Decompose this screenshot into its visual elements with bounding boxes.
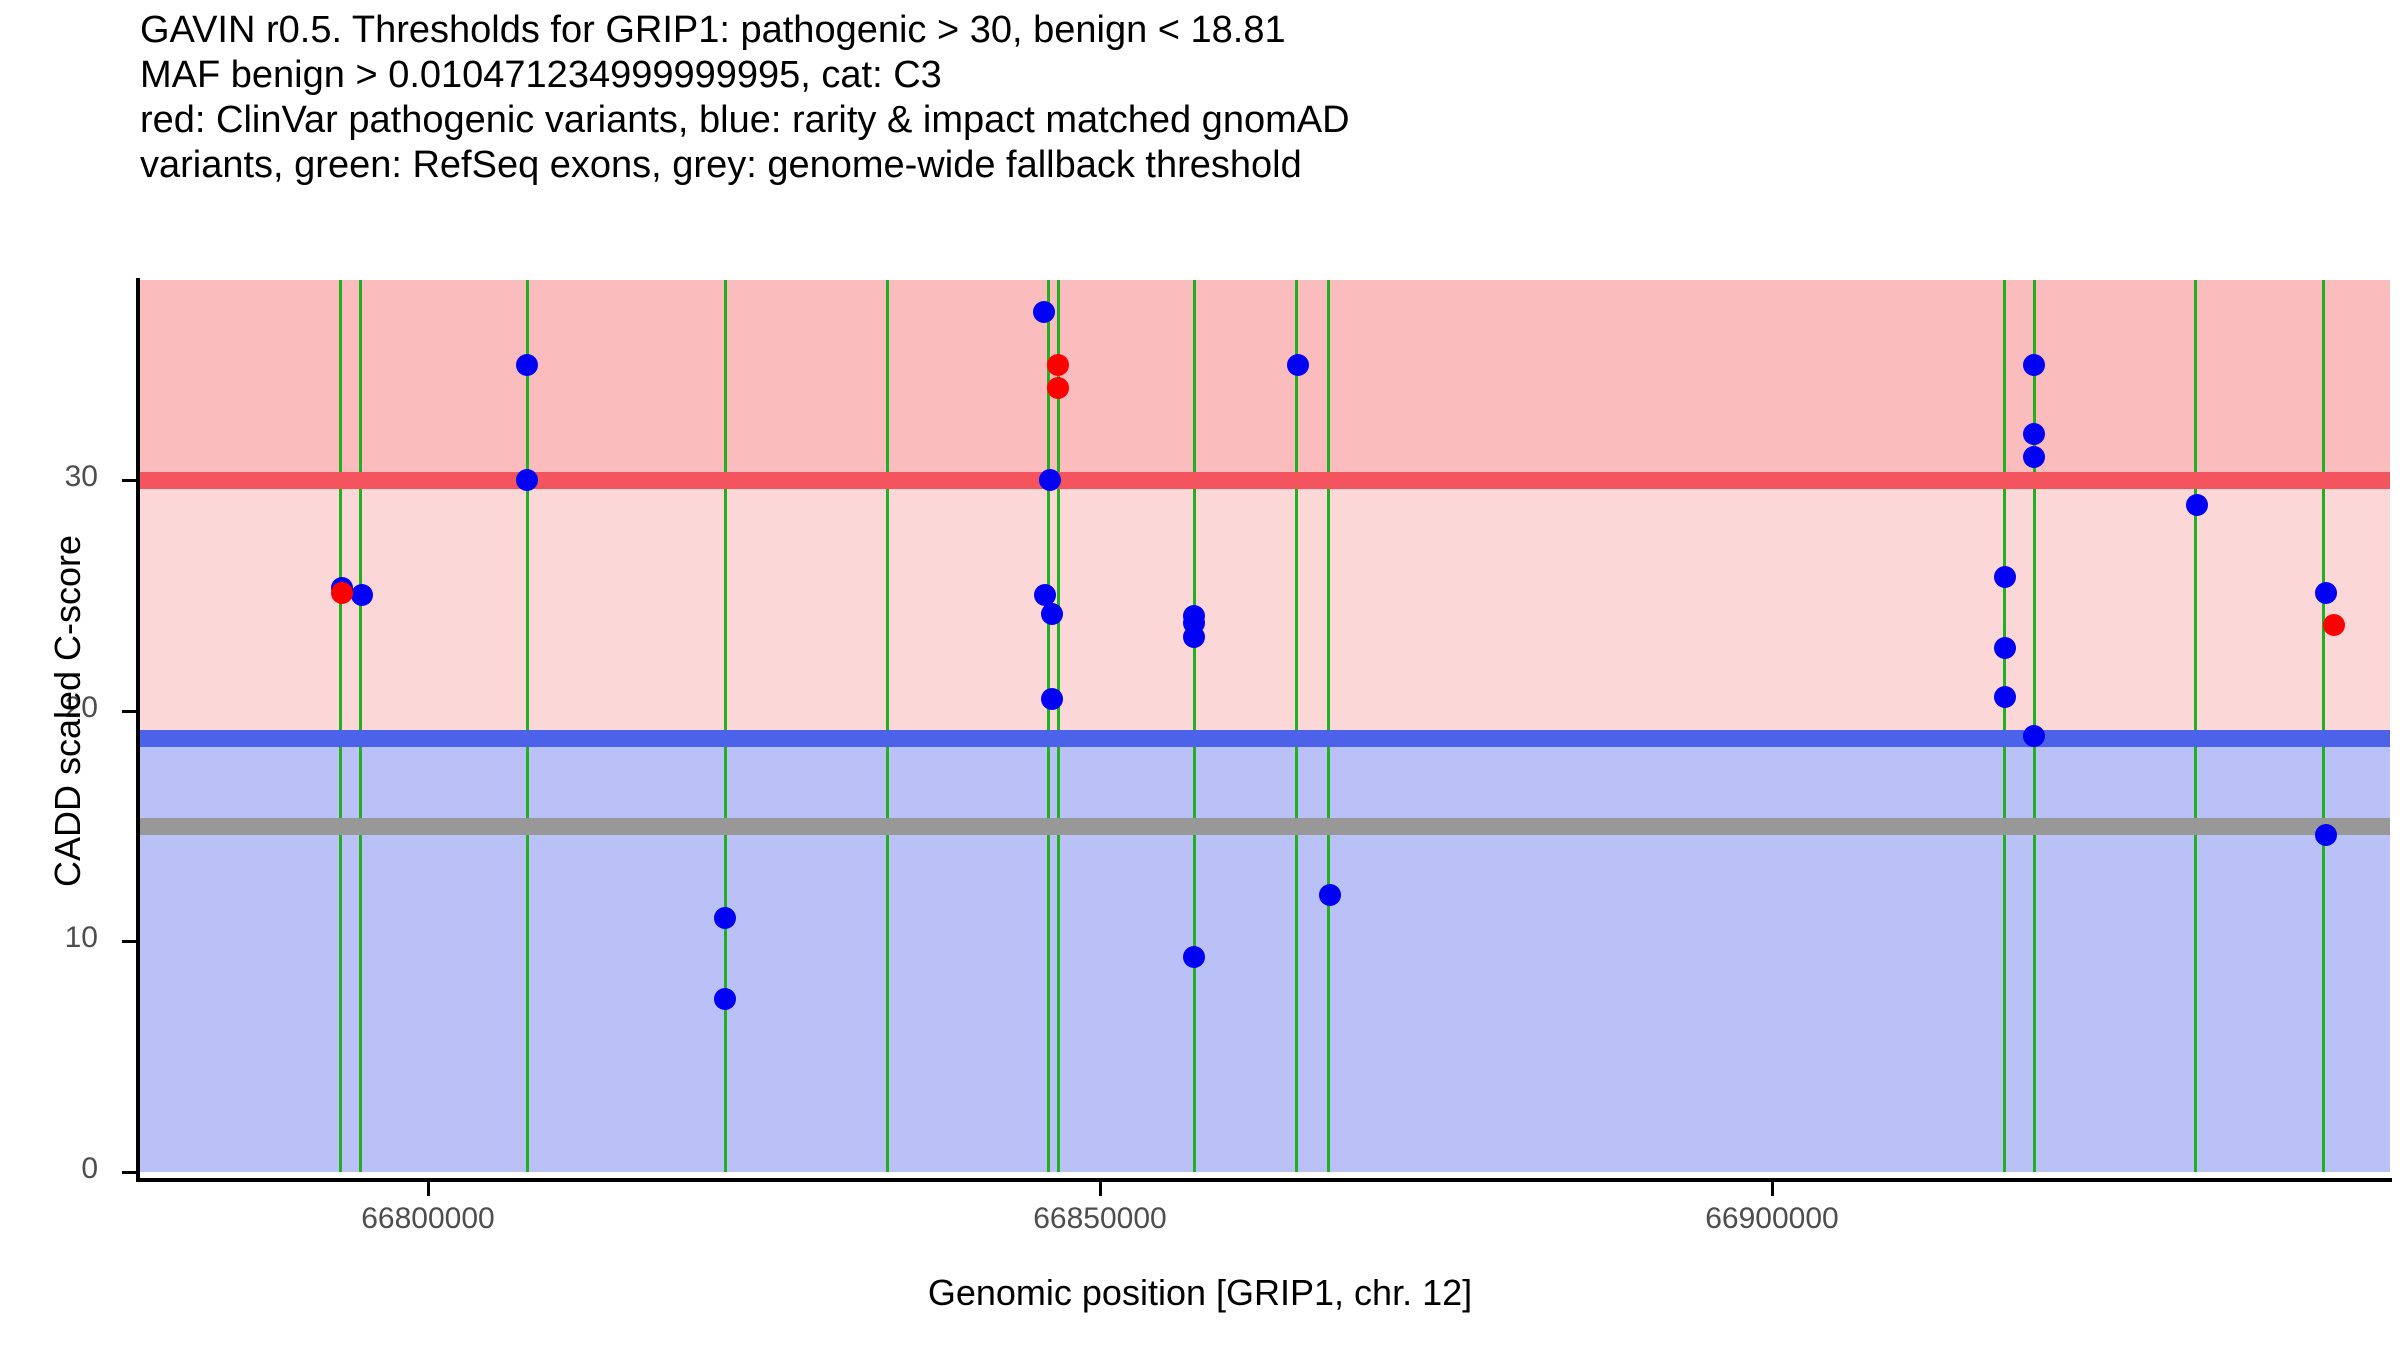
x-axis-title: Genomic position [GRIP1, chr. 12] [0, 1272, 2400, 1314]
band-benign [139, 738, 2390, 1172]
title-line-1: GAVIN r0.5. Thresholds for GRIP1: pathog… [140, 8, 2340, 53]
exon-line [2194, 280, 2197, 1172]
y-tick-mark [122, 1171, 136, 1174]
gnomad-variant-point [2315, 824, 2337, 846]
exon-line [886, 280, 889, 1172]
band-vus [139, 480, 2390, 738]
gnomad-variant-point [714, 988, 736, 1010]
gnomad-variant-point [2023, 354, 2045, 376]
clinvar-variant-point [2323, 614, 2345, 636]
x-tick-mark [1099, 1182, 1102, 1196]
x-axis-line [136, 1178, 2392, 1182]
y-axis-line [136, 278, 140, 1178]
gnomad-variant-point [1319, 884, 1341, 906]
hline-genome-wide-fallback-threshold [139, 818, 2390, 835]
y-tick-mark [122, 940, 136, 943]
gnomad-variant-point [1994, 686, 2016, 708]
exon-line [1047, 280, 1050, 1172]
clinvar-variant-point [331, 582, 353, 604]
gnomad-variant-point [2186, 494, 2208, 516]
exon-line [1327, 280, 1330, 1172]
y-axis-title: CADD scaled C-score [47, 411, 89, 1011]
gnomad-variant-point [1041, 688, 1063, 710]
title-line-3: red: ClinVar pathogenic variants, blue: … [140, 98, 2340, 143]
band-pathogenic [139, 280, 2390, 480]
x-tick-mark [427, 1182, 430, 1196]
exon-line [339, 280, 342, 1172]
scatter-plot-panel [139, 280, 2390, 1172]
y-tick-mark [122, 479, 136, 482]
gnomad-variant-point [2023, 725, 2045, 747]
y-tick-mark [122, 710, 136, 713]
gnomad-variant-point [516, 354, 538, 376]
title-line-2: MAF benign > 0.010471234999999995, cat: … [140, 53, 2340, 98]
exon-line [2322, 280, 2325, 1172]
gnomad-variant-point [2023, 423, 2045, 445]
chart-title-block: GAVIN r0.5. Thresholds for GRIP1: pathog… [140, 8, 2340, 188]
gnomad-variant-point [2023, 446, 2045, 468]
hline-pathogenic-threshold [139, 472, 2390, 489]
exon-line [1057, 280, 1060, 1172]
exon-line [526, 280, 529, 1172]
x-tick-label: 66900000 [1642, 1202, 1902, 1236]
exon-line [1295, 280, 1298, 1172]
gnomad-variant-point [1183, 626, 1205, 648]
gnomad-variant-point [1287, 354, 1309, 376]
clinvar-variant-point [1047, 377, 1069, 399]
gnomad-variant-point [1994, 566, 2016, 588]
exon-line [724, 280, 727, 1172]
y-tick-label: 0 [0, 1152, 98, 1186]
gnomad-variant-point [1041, 603, 1063, 625]
x-tick-label: 66800000 [298, 1202, 558, 1236]
gnomad-variant-point [2315, 582, 2337, 604]
exon-line [2003, 280, 2006, 1172]
x-tick-label: 66850000 [970, 1202, 1230, 1236]
clinvar-variant-point [1047, 354, 1069, 376]
exon-line [359, 280, 362, 1172]
exon-line [1193, 280, 1196, 1172]
x-tick-mark [1771, 1182, 1774, 1196]
hline-benign-threshold [139, 730, 2390, 747]
gnomad-variant-point [1033, 301, 1055, 323]
title-line-4: variants, green: RefSeq exons, grey: gen… [140, 143, 2340, 188]
gnomad-variant-point [1994, 637, 2016, 659]
